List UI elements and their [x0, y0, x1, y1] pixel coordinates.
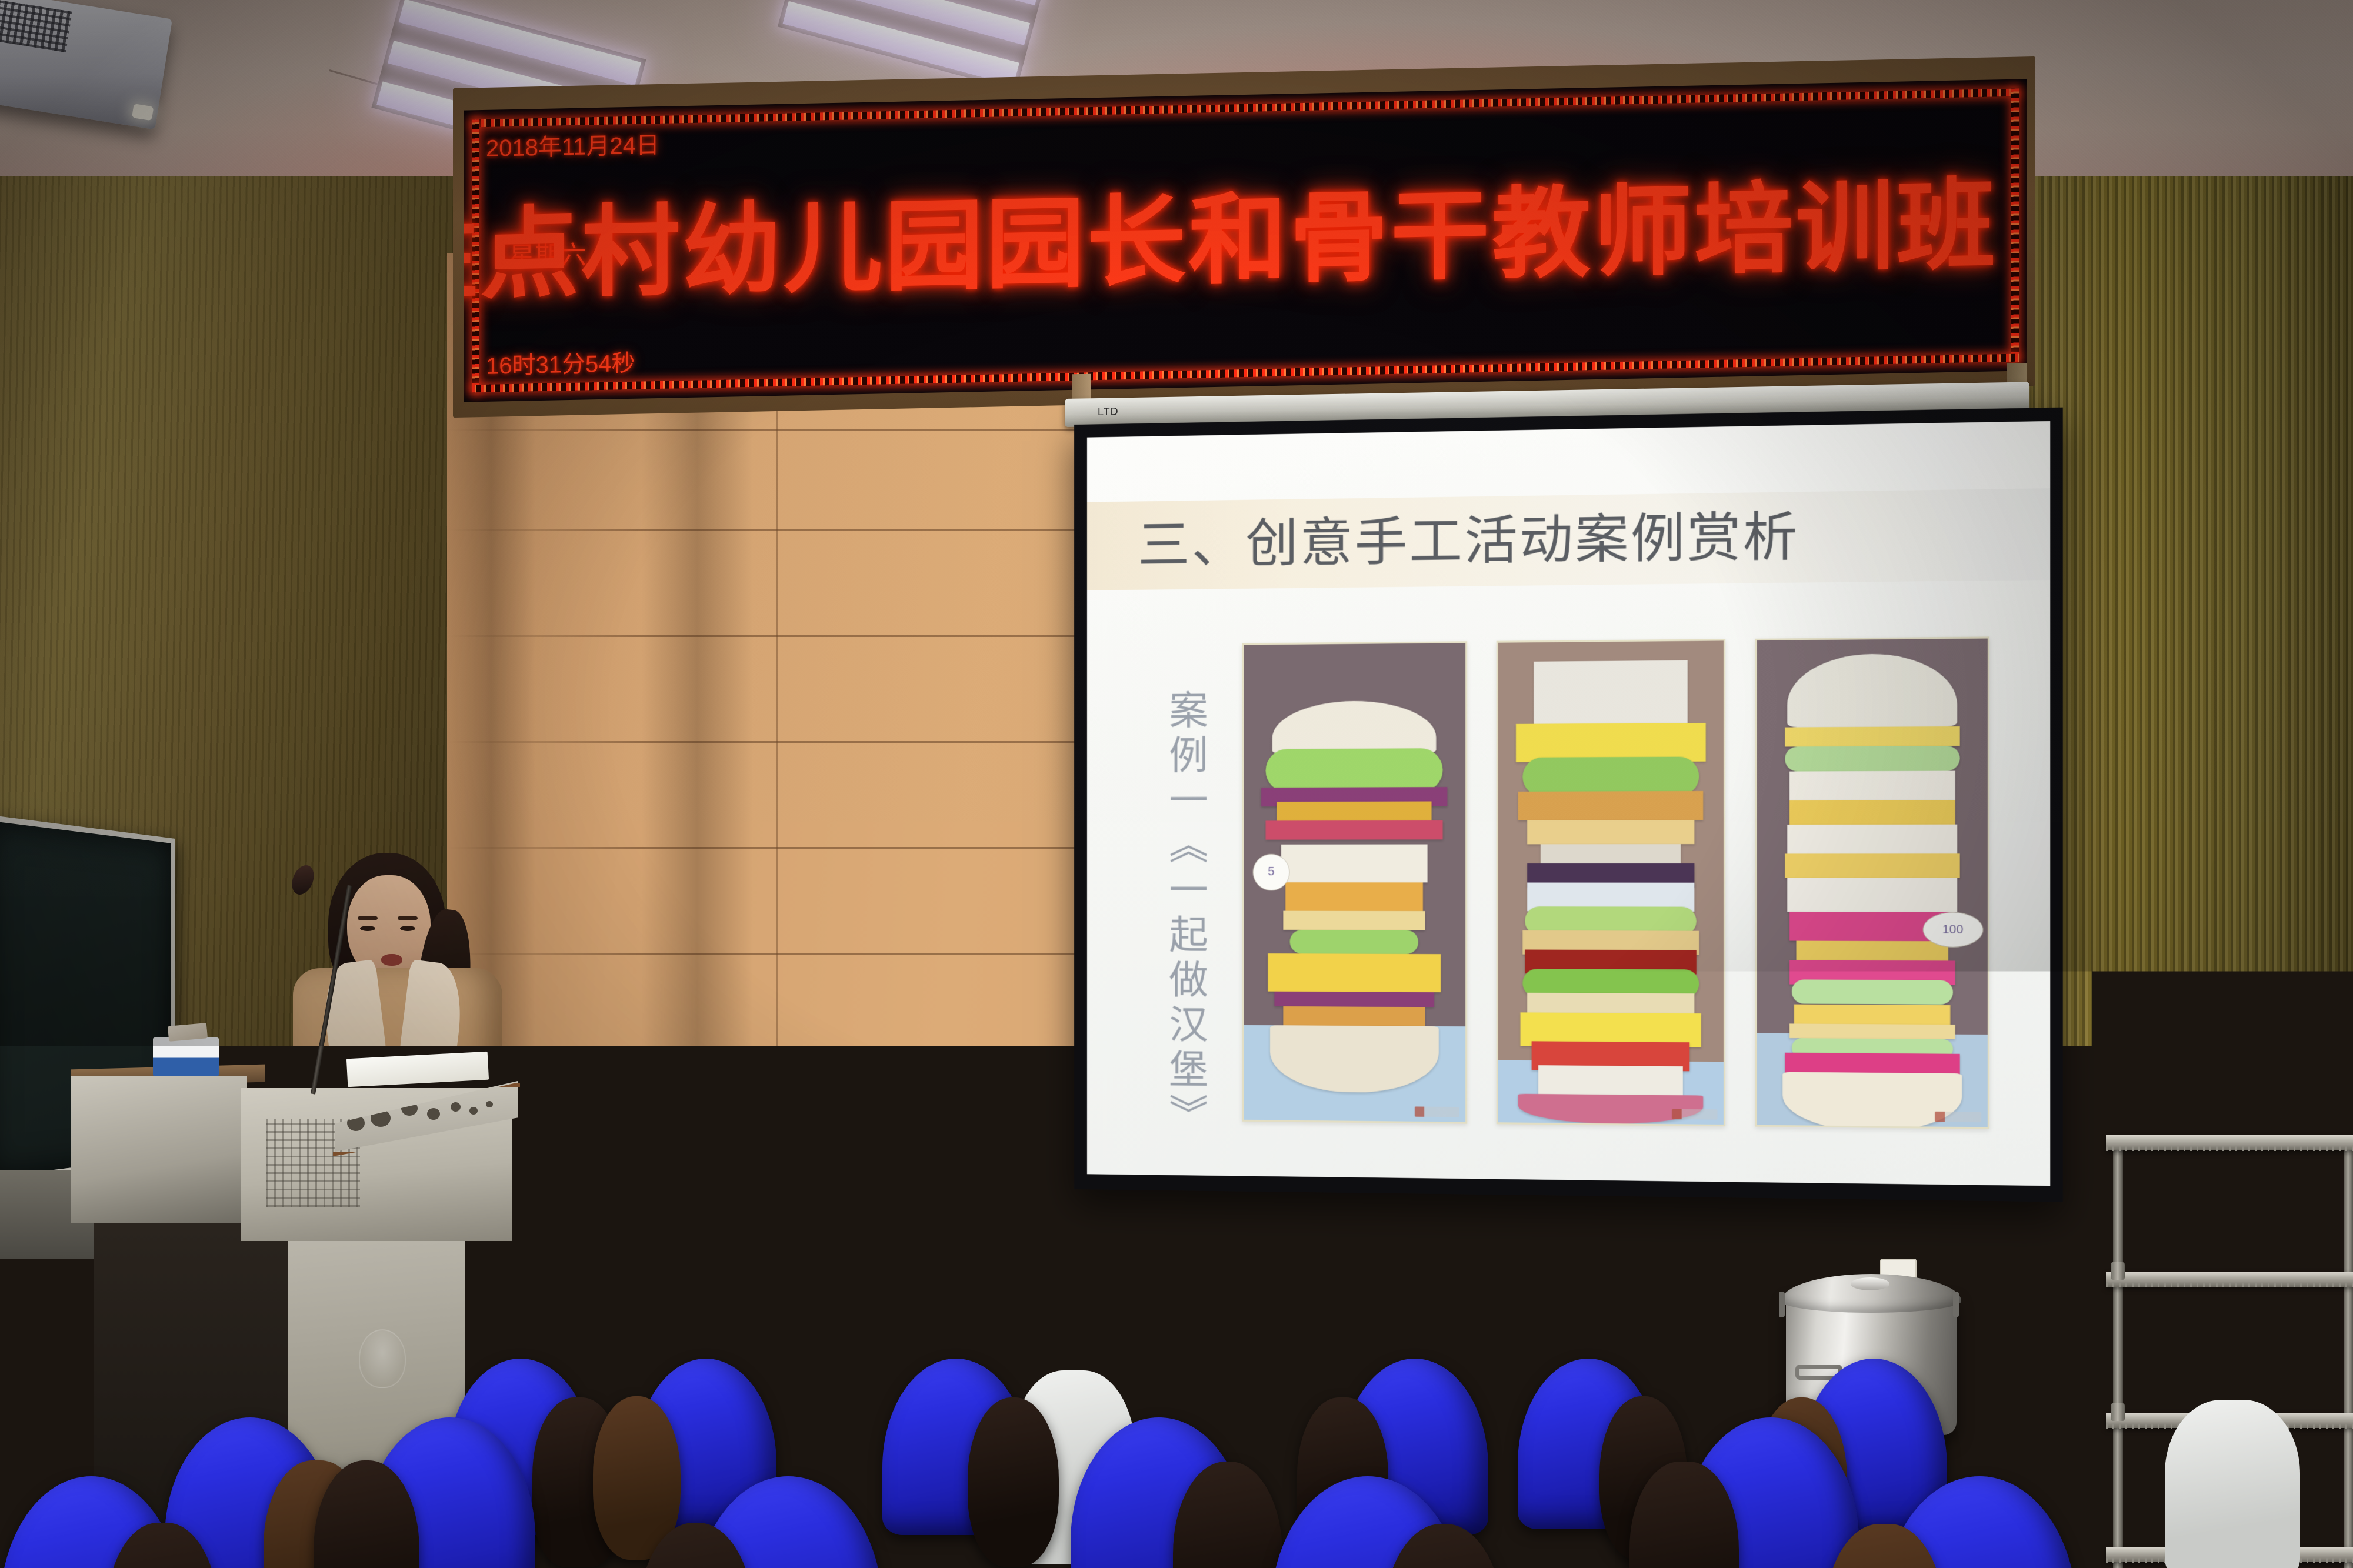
burger-layer-fries [1285, 882, 1422, 911]
led-headline-wrap: 山东省省直第一书记驻点村幼儿园园长和骨干教师培训班 [605, 103, 1998, 382]
burger-layer-cheese-block [1268, 953, 1441, 992]
burger-layer-white-bread-3 [1787, 878, 1958, 912]
audience-attendee [2165, 1400, 2300, 1568]
burger-collage-3: 100 [1755, 636, 1989, 1129]
burger-layer-noodle-curl [1527, 820, 1694, 844]
burger-layer-cheese-slice [1785, 726, 1960, 747]
burger-layer-lettuce-2 [1290, 930, 1418, 954]
burger-collage-2 [1496, 639, 1725, 1126]
burger-layer-lettuce-mix [1522, 757, 1698, 796]
burger-layer-lettuce [1785, 746, 1960, 772]
shelf-level [2106, 1135, 2353, 1150]
burger-layer-cheese-cubes [1796, 941, 1948, 961]
audience-area [0, 1223, 2353, 1568]
audience-head [968, 1397, 1059, 1567]
burger-layer-bun-top-striped [1534, 660, 1687, 724]
slide-vertical-caption: 案例一《一起做汉堡》 [1152, 689, 1207, 1139]
burger-layer-white-card [1281, 844, 1427, 882]
burger-layer-ham-slice [1518, 791, 1704, 820]
burger-layer-noodle [1789, 1023, 1955, 1039]
photo-watermark [1672, 1109, 1718, 1120]
led-banner: 2018年11月24日 星期六 16时31分54秒 山东省省直第一书记驻点村幼儿… [453, 56, 2035, 418]
side-desk [71, 1076, 247, 1223]
roller-brand-label: LTD [1098, 405, 1119, 418]
slide-title: 三、创意手工活动案例赏析 [1138, 510, 1799, 571]
photo-watermark [1935, 1112, 1981, 1122]
lecture-hall-scene: 2018年11月24日 星期六 16时31分54秒 山东省省直第一书记驻点村幼儿… [0, 0, 2353, 1568]
led-headline: 山东省省直第一书记驻点村幼儿园园长和骨干教师培训班 [464, 175, 1998, 325]
burger-layer-purple-strip [1275, 992, 1434, 1007]
burger-layer-cheese-cubes-2 [1794, 1004, 1950, 1025]
tissue-box [153, 1037, 219, 1076]
led-time: 16时31分54秒 [486, 352, 609, 378]
photo-price-tag: 100 [1922, 912, 1983, 948]
burger-layer-noodle [1284, 911, 1425, 930]
burger-layer-ham [1266, 820, 1443, 840]
projection-screen: 三、创意手工活动案例赏析 案例一《一起做汉堡》 5100 [1074, 408, 2063, 1202]
burger-layer-cheese-strip [1789, 800, 1955, 825]
slide-surface: 三、创意手工活动案例赏析 案例一《一起做汉堡》 5100 [1087, 421, 2050, 1186]
burger-layer-white-bread [1789, 770, 1955, 800]
slide-photo-row: 5100 [1242, 636, 1989, 1129]
burger-collage-1: 5 [1242, 641, 1467, 1124]
handbag [722, 1069, 861, 1159]
burger-layer-lettuce-2 [1791, 980, 1952, 1005]
photo-price-tag: 5 [1252, 854, 1289, 891]
photo-watermark [1414, 1106, 1459, 1117]
led-date: 2018年11月24日 [486, 135, 609, 161]
burger-layer-white-bread-2 [1787, 824, 1958, 853]
burger-layer-lettuce [1266, 749, 1443, 792]
burger-layer-cheese-strip-2 [1785, 853, 1960, 878]
